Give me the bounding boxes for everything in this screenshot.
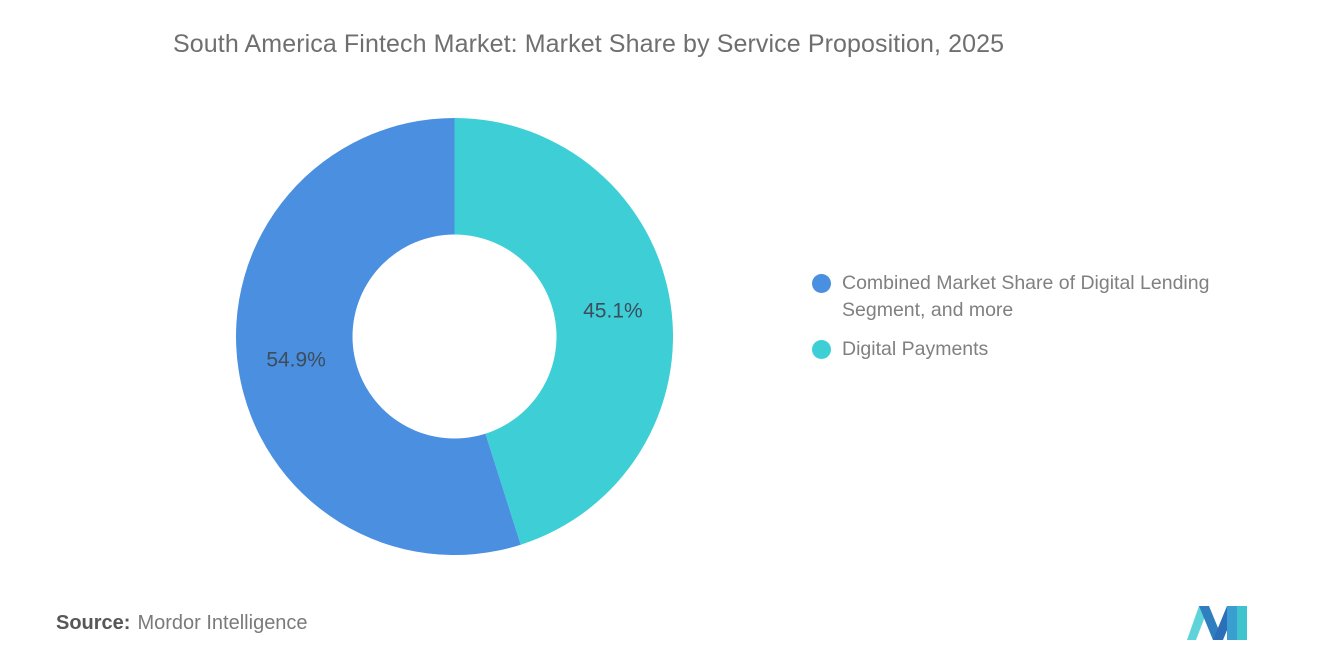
slice-label-blue: 54.9% xyxy=(266,349,326,372)
logo-shape-i-bar xyxy=(1227,606,1237,640)
logo-shape-right-accent xyxy=(1237,606,1247,640)
slice-label-teal: 45.1% xyxy=(583,299,643,322)
source-label: Source: xyxy=(56,612,130,634)
legend-swatch-teal xyxy=(812,340,831,359)
legend-label-combined-market-share: Combined Market Share of Digital Lending… xyxy=(842,270,1274,324)
legend-swatch-blue xyxy=(812,274,831,293)
chart-title: South America Fintech Market: Market Sha… xyxy=(173,30,1004,59)
chart-legend: Combined Market Share of Digital Lending… xyxy=(812,270,1292,375)
legend-item-combined-market-share[interactable]: Combined Market Share of Digital Lending… xyxy=(812,270,1292,324)
donut-chart: 54.9% 45.1% xyxy=(236,118,673,555)
donut-hole xyxy=(353,235,557,439)
legend-item-digital-payments[interactable]: Digital Payments xyxy=(812,336,1292,363)
source-line: Source:Mordor Intelligence xyxy=(56,612,308,635)
legend-label-digital-payments: Digital Payments xyxy=(842,336,988,363)
source-value: Mordor Intelligence xyxy=(137,612,307,634)
mordor-intelligence-logo xyxy=(1185,598,1253,640)
